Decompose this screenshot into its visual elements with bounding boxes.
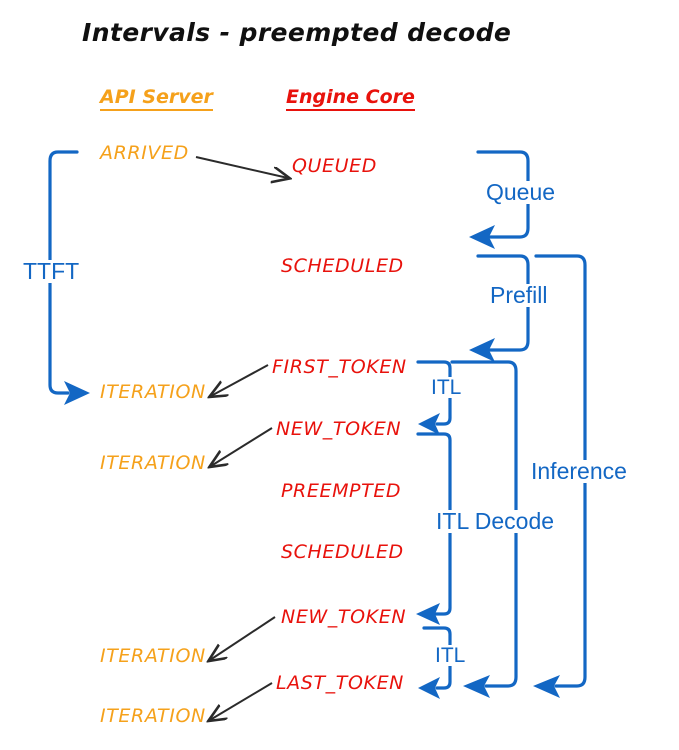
- interval-label-inference: Inference: [528, 460, 630, 483]
- arrow-first-token-to-iteration: [211, 365, 268, 396]
- arrowhead-itl-2: [418, 677, 440, 699]
- arrow-last-token-to-iteration: [210, 683, 272, 720]
- transition-arrows: [196, 157, 288, 720]
- column-header-engine-core: Engine Core: [286, 88, 415, 111]
- event-iteration-1: ITERATION: [100, 383, 206, 402]
- column-header-api-server: API Server: [100, 88, 213, 111]
- event-first-token: FIRST_TOKEN: [272, 358, 407, 377]
- interval-label-ttft: TTFT: [20, 260, 82, 283]
- arrow-new-token-1-to-iteration: [211, 428, 272, 466]
- interval-label-prefill: Prefill: [487, 284, 551, 307]
- event-iteration-3: ITERATION: [100, 647, 206, 666]
- interval-label-itl-decode: ITL Decode: [433, 510, 557, 533]
- event-preempted: PREEMPTED: [281, 482, 401, 501]
- interval-label-itl-1: ITL: [428, 377, 464, 398]
- arrow-new-token-2-to-iteration: [210, 617, 275, 660]
- arrowhead-itl-1: [418, 413, 440, 435]
- event-new-token-1: NEW_TOKEN: [276, 420, 401, 439]
- event-iteration-2: ITERATION: [100, 454, 206, 473]
- arrowhead-inference: [533, 675, 560, 698]
- arrowhead-queue: [469, 225, 495, 249]
- event-new-token-2: NEW_TOKEN: [281, 608, 406, 627]
- event-iteration-4: ITERATION: [100, 707, 206, 726]
- interval-label-queue: Queue: [483, 181, 558, 204]
- arrowhead-ttft: [64, 381, 90, 405]
- event-scheduled-1: SCHEDULED: [281, 257, 404, 276]
- event-arrived: ARRIVED: [100, 144, 189, 163]
- arrowhead-prefill: [469, 338, 495, 362]
- interval-label-itl-2: ITL: [432, 645, 468, 666]
- page-title: Intervals - preempted decode: [82, 20, 511, 45]
- arrow-arrived-to-queued: [196, 157, 288, 178]
- diagram-canvas: Intervals - preempted decode API Server …: [0, 0, 679, 750]
- event-scheduled-2: SCHEDULED: [281, 543, 404, 562]
- event-queued: QUEUED: [292, 157, 377, 176]
- arrowhead-itl-decode: [416, 603, 440, 625]
- arrowhead-decode: [463, 675, 490, 698]
- event-last-token: LAST_TOKEN: [276, 674, 404, 693]
